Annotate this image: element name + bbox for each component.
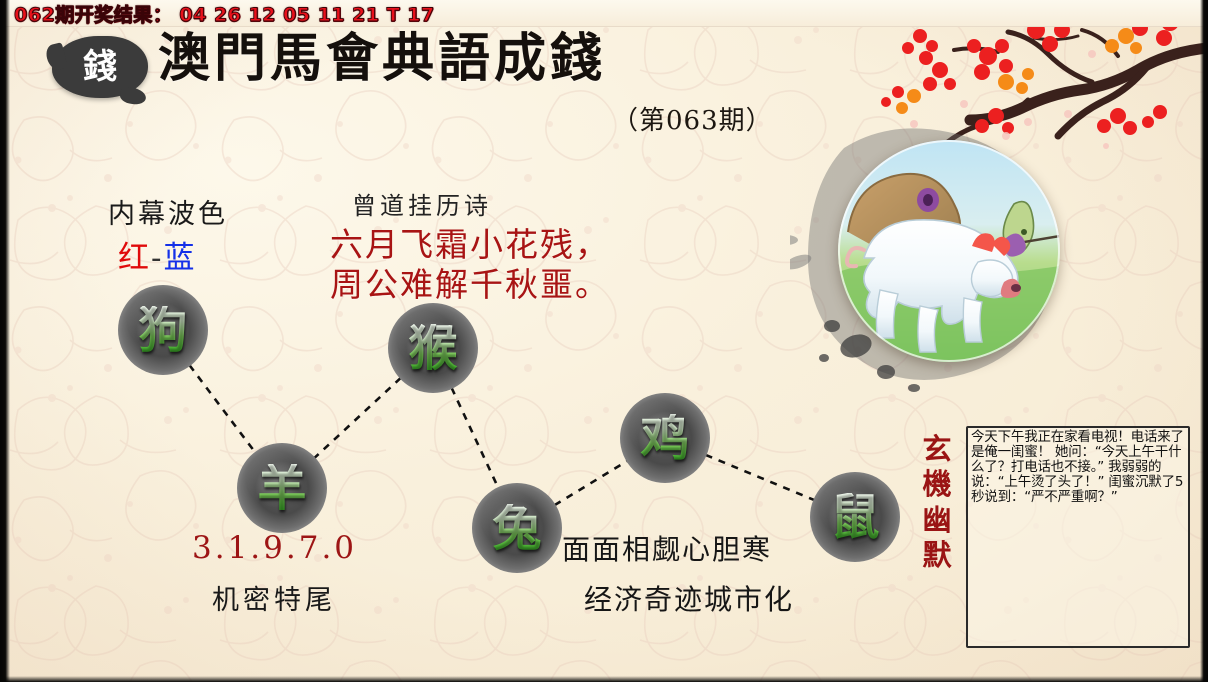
humor-label-char-2: 幽 [918, 503, 956, 538]
phrase-line-2: 经济奇迹城市化 [584, 578, 794, 618]
joke-text: 今天下午我正在家看电视！电话来了是俺一闺蜜！ 她问：“今天上午干什么了？打电话也… [971, 430, 1185, 506]
bose-value: 红-蓝 [118, 232, 196, 277]
left-edge-shadow [0, 0, 10, 682]
poem-title: 曾道挂历诗 [352, 186, 492, 221]
joke-box: 今天下午我正在家看电视！电话来了是俺一闺蜜！ 她问：“今天上午干什么了？打电话也… [966, 426, 1190, 648]
zodiac-node-兔[interactable]: 兔 [472, 483, 562, 573]
zodiac-node-羊[interactable]: 羊 [237, 443, 327, 533]
right-edge-shadow [1200, 0, 1208, 682]
zodiac-node-狗[interactable]: 狗 [118, 285, 208, 375]
zodiac-node-label: 狗 [138, 306, 187, 355]
draw-result-banner: 062期开奖结果： 04 26 12 05 11 21 T 17 [0, 0, 1208, 27]
humor-label-char-3: 默 [918, 538, 956, 573]
humor-vertical-label: 玄機幽默 [918, 432, 956, 574]
page-title: 澳門馬會典語成錢 [158, 32, 606, 87]
phrase-line-1: 面面相觑心胆寒 [562, 528, 772, 568]
bose-red: 红 [118, 240, 151, 276]
bottom-edge-shadow [0, 676, 1208, 682]
seal-character: 錢 [83, 50, 117, 84]
humor-label-char-1: 機 [918, 467, 956, 502]
bose-blue: 蓝 [163, 240, 196, 276]
rhino-illustration [838, 140, 1060, 362]
zodiac-node-label: 羊 [257, 464, 306, 513]
draw-result-text: 062期开奖结果： 04 26 12 05 11 21 T 17 [14, 0, 435, 27]
zodiac-node-label: 猴 [408, 324, 457, 373]
zodiac-node-label: 鼠 [830, 493, 879, 542]
zodiac-node-鸡[interactable]: 鸡 [620, 393, 710, 483]
bose-title: 内幕波色 [108, 192, 228, 231]
zodiac-node-label: 鸡 [640, 414, 689, 463]
secret-tail-label: 机密特尾 [212, 578, 336, 617]
zodiac-node-猴[interactable]: 猴 [388, 303, 478, 393]
secret-tail-numbers: 3.1.9.7.0 [192, 530, 357, 566]
issue-number: （第063期） [612, 100, 773, 137]
zodiac-node-label: 兔 [492, 504, 541, 553]
bose-dash: - [151, 240, 163, 276]
poem-line-2: 周公难解千秋噩。 [330, 258, 610, 306]
humor-label-char-0: 玄 [918, 432, 956, 467]
seal-stamp: 錢 [52, 36, 148, 98]
lottery-poster: 062期开奖结果： 04 26 12 05 11 21 T 17 錢 澳門馬會典… [0, 0, 1208, 682]
zodiac-node-鼠[interactable]: 鼠 [810, 472, 900, 562]
